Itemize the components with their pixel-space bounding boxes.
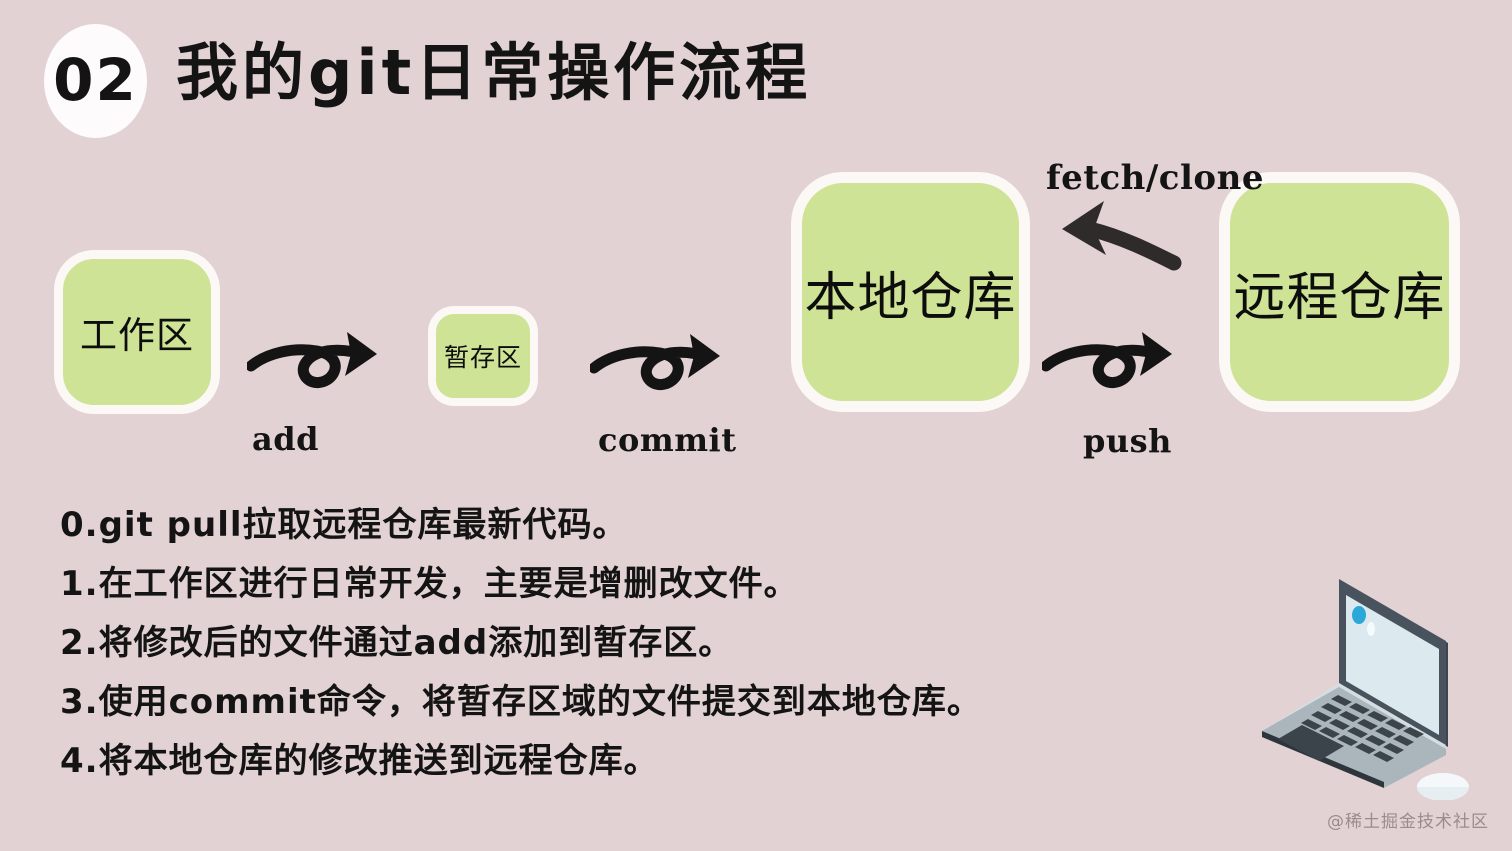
watermark: @稀土掘金技术社区: [1327, 807, 1489, 832]
node-working-directory-label: 工作区: [80, 305, 194, 359]
arrow-label-commit: commit: [598, 421, 736, 459]
step-item: 4.将本地仓库的修改推送到远程仓库。: [60, 744, 1240, 778]
arrow-label-push: push: [1083, 422, 1172, 460]
laptop-illustration: [1240, 565, 1490, 800]
arrow-commit-icon: [590, 322, 726, 417]
node-remote-repository: 远程仓库: [1219, 172, 1460, 412]
node-working-directory: 工作区: [54, 250, 220, 414]
node-staging-area-label: 暂存区: [444, 338, 522, 374]
section-number-badge: 02: [44, 24, 147, 138]
page-title: 我的git日常操作流程: [176, 36, 811, 110]
node-local-repository: 本地仓库: [791, 172, 1030, 412]
step-item: 2.将修改后的文件通过add添加到暂存区。: [60, 626, 1240, 660]
steps-list: 0.git pull拉取远程仓库最新代码。 1.在工作区进行日常开发，主要是增删…: [60, 508, 1240, 803]
arrow-label-add: add: [252, 420, 319, 458]
git-flow-diagram: 工作区 暂存区 本地仓库 远程仓库: [0, 150, 1512, 490]
node-staging-area: 暂存区: [428, 306, 538, 406]
arrow-fetch-clone-icon: [1046, 185, 1186, 280]
step-item: 1.在工作区进行日常开发，主要是增删改文件。: [60, 567, 1240, 601]
arrow-push-icon: [1042, 320, 1178, 415]
arrow-add-icon: [247, 320, 383, 415]
node-remote-repository-label: 远程仓库: [1233, 255, 1445, 330]
step-item: 0.git pull拉取远程仓库最新代码。: [60, 508, 1240, 542]
slide-canvas: 02 我的git日常操作流程 工作区 暂存区 本地仓库 远程仓库: [0, 0, 1512, 851]
node-local-repository-label: 本地仓库: [804, 255, 1016, 330]
slide-header: 02 我的git日常操作流程: [0, 0, 1512, 160]
step-item: 3.使用commit命令，将暂存区域的文件提交到本地仓库。: [60, 685, 1240, 719]
arrow-label-fetch-clone: fetch/clone: [1046, 158, 1264, 198]
section-number: 02: [53, 51, 138, 109]
